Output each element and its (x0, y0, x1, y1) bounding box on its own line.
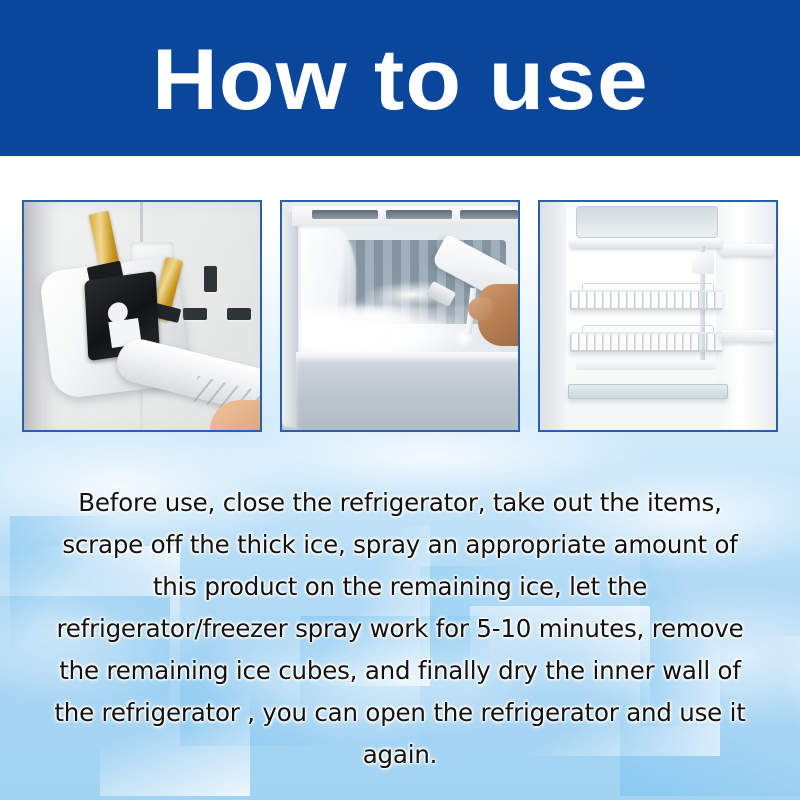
freezer-drawer (296, 358, 520, 432)
how-to-use-infographic: How to use (0, 0, 800, 800)
fridge-side-wall (540, 202, 566, 430)
header-banner: How to use (0, 0, 800, 156)
fridge-lower-tray (576, 360, 716, 370)
wall-edge (24, 202, 46, 430)
freezer-vent-slot (386, 210, 452, 219)
fridge-door-shelf (720, 244, 774, 256)
photo-clean-fridge-interior (538, 200, 778, 432)
spray-mist (314, 269, 448, 360)
freezer-vent-slot (312, 210, 378, 219)
fridge-door-shelf (720, 330, 774, 342)
photo-spray-frozen-freezer (280, 200, 520, 432)
page-title: How to use (152, 37, 649, 123)
socket-hole-live (183, 308, 207, 320)
photo-unplug-refrigerator (22, 200, 262, 432)
instructions-paragraph: Before use, close the refrigerator, take… (40, 482, 760, 776)
fridge-top-crisper-box (576, 206, 718, 238)
step-photo-row (22, 200, 778, 432)
socket-hole-earth (204, 266, 217, 292)
fridge-wire-shelf (570, 290, 722, 310)
freezer-vent-slot (460, 210, 518, 219)
fridge-light-housing (692, 252, 714, 274)
fridge-wire-shelf (570, 332, 722, 352)
fridge-glass-shelf (568, 384, 728, 399)
socket-hole-neutral (227, 308, 251, 320)
hand-holding-spray (478, 284, 520, 346)
